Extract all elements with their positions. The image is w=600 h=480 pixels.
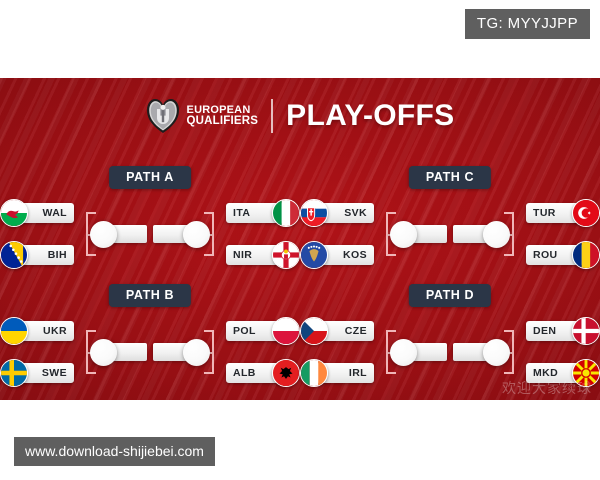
slot-knob	[483, 339, 510, 366]
team-code: IRL	[349, 367, 367, 379]
semifinal-winner-slot[interactable]	[390, 220, 447, 248]
left-teams: UKRSWE	[0, 317, 82, 387]
path-c: PATH CSVKKOSTURROU	[300, 160, 600, 278]
slovakia-flag	[300, 199, 328, 227]
ireland-flag	[300, 359, 328, 387]
italy-flag	[272, 199, 300, 227]
team-code: UKR	[43, 325, 67, 337]
team-slot[interactable]: WAL	[0, 199, 82, 227]
logo-line-2: QUALIFIERS	[187, 116, 259, 128]
slot-knob	[183, 339, 210, 366]
left-teams: CZEIRL	[300, 317, 382, 387]
denmark-flag	[572, 317, 600, 345]
left-teams: WALBIH	[0, 199, 82, 269]
bracket-body: UKRSWEPOLALB	[0, 308, 300, 396]
panel-header: EUROPEAN QUALIFIERS PLAY-OFFS	[0, 98, 600, 134]
bracket-connector	[210, 308, 218, 396]
tag-badge: TG: MYYJJPP	[465, 9, 590, 39]
bracket-connector	[382, 308, 390, 396]
romania-flag	[572, 241, 600, 269]
playoffs-panel: EUROPEAN QUALIFIERS PLAY-OFFS PATH AWALB…	[0, 78, 600, 400]
team-slot[interactable]: ALB	[218, 359, 300, 387]
slot-knob	[390, 339, 417, 366]
team-slot[interactable]: CZE	[300, 317, 382, 345]
team-slot[interactable]: TUR	[518, 199, 600, 227]
team-code: DEN	[533, 325, 556, 337]
team-code: WAL	[42, 207, 67, 219]
slot-knob	[90, 339, 117, 366]
team-slot[interactable]: ITA	[218, 199, 300, 227]
team-slot[interactable]: POL	[218, 317, 300, 345]
team-code: ALB	[233, 367, 256, 379]
match-slots	[90, 338, 210, 366]
path-b: PATH BUKRSWEPOLALB	[0, 278, 300, 396]
team-slot[interactable]: IRL	[300, 359, 382, 387]
semifinal-winner-slot[interactable]	[90, 220, 147, 248]
path-label: PATH B	[109, 284, 191, 307]
turkey-flag	[572, 199, 600, 227]
bracket-connector	[82, 308, 90, 396]
team-code: TUR	[533, 207, 556, 219]
team-code: ROU	[533, 249, 558, 261]
team-slot[interactable]: ROU	[518, 241, 600, 269]
match-slots	[90, 220, 210, 248]
screenshot-root: TG: MYYJJPP EUROPEAN QUALIFIERS	[0, 0, 600, 480]
ukraine-flag	[0, 317, 28, 345]
brackets-grid: PATH AWALBIHITANIRPATH CSVKKOSTURROUPATH…	[0, 160, 600, 396]
qualifiers-emblem-icon	[146, 98, 180, 134]
team-code: POL	[233, 325, 256, 337]
bosnia-herzegovina-flag	[0, 241, 28, 269]
team-slot[interactable]: NIR	[218, 241, 300, 269]
team-code: SWE	[42, 367, 67, 379]
team-slot[interactable]: SWE	[0, 359, 82, 387]
right-teams: TURROU	[518, 199, 600, 269]
chinese-watermark: 欢迎大家续球	[502, 378, 592, 398]
semifinal-winner-slot[interactable]	[90, 338, 147, 366]
slot-knob	[183, 221, 210, 248]
bracket-body: SVKKOSTURROU	[300, 190, 600, 278]
path-a: PATH AWALBIHITANIR	[0, 160, 300, 278]
slot-knob	[390, 221, 417, 248]
url-watermark-badge: www.download-shijiebei.com	[14, 437, 215, 466]
team-slot[interactable]: SVK	[300, 199, 382, 227]
poland-flag	[272, 317, 300, 345]
slot-knob	[90, 221, 117, 248]
bracket-body: WALBIHITANIR	[0, 190, 300, 278]
albania-flag	[272, 359, 300, 387]
sweden-flag	[0, 359, 28, 387]
left-teams: SVKKOS	[300, 199, 382, 269]
team-code: SVK	[344, 207, 367, 219]
team-slot[interactable]: KOS	[300, 241, 382, 269]
final-winner-slot[interactable]	[453, 220, 510, 248]
header-divider	[271, 99, 273, 133]
team-code: CZE	[345, 325, 367, 337]
right-teams: DENMKD	[518, 317, 600, 387]
kosovo-flag	[300, 241, 328, 269]
final-winner-slot[interactable]	[453, 338, 510, 366]
bracket-connector	[210, 190, 218, 278]
czech-republic-flag	[300, 317, 328, 345]
match-slots	[390, 338, 510, 366]
path-label: PATH C	[409, 166, 491, 189]
team-slot[interactable]: DEN	[518, 317, 600, 345]
path-label: PATH D	[409, 284, 491, 307]
northern-ireland-flag	[272, 241, 300, 269]
team-slot[interactable]: BIH	[0, 241, 82, 269]
team-code: NIR	[233, 249, 252, 261]
right-teams: POLALB	[218, 317, 300, 387]
bracket-connector	[82, 190, 90, 278]
final-winner-slot[interactable]	[153, 220, 210, 248]
wales-flag	[0, 199, 28, 227]
path-label: PATH A	[109, 166, 191, 189]
team-code: ITA	[233, 207, 250, 219]
page-title: PLAY-OFFS	[286, 99, 454, 133]
semifinal-winner-slot[interactable]	[390, 338, 447, 366]
match-slots	[390, 220, 510, 248]
final-winner-slot[interactable]	[153, 338, 210, 366]
right-teams: ITANIR	[218, 199, 300, 269]
european-qualifiers-logo: EUROPEAN QUALIFIERS	[146, 98, 259, 134]
team-slot[interactable]: UKR	[0, 317, 82, 345]
team-code: KOS	[343, 249, 367, 261]
logo-wordmark: EUROPEAN QUALIFIERS	[187, 105, 259, 128]
bracket-connector	[382, 190, 390, 278]
slot-knob	[483, 221, 510, 248]
bracket-connector	[510, 190, 518, 278]
team-code: BIH	[48, 249, 67, 261]
